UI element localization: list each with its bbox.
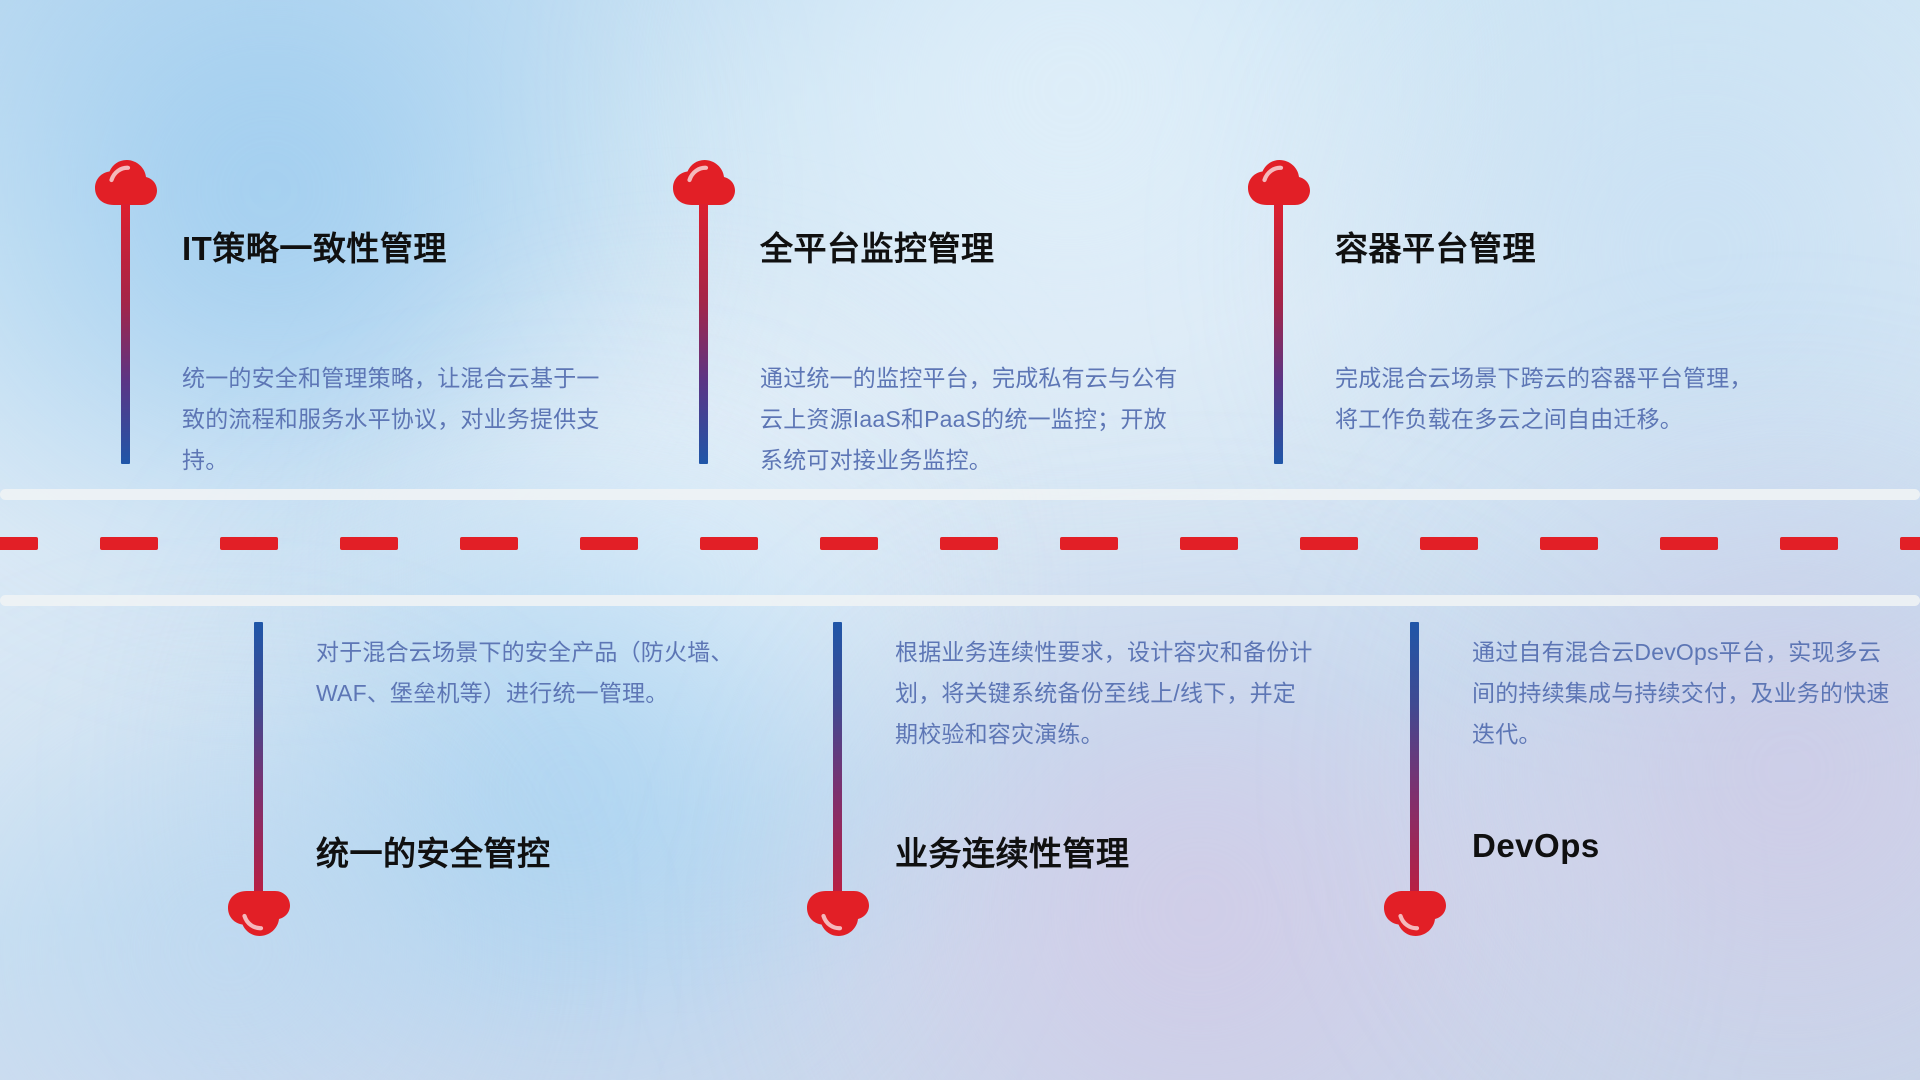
- road-dash: [1060, 537, 1118, 550]
- bottom-column-1-body: 对于混合云场景下的安全产品（防火墙、WAF、堡垒机等）进行统一管理。: [316, 632, 736, 714]
- top-column-2-heading: 全平台监控管理: [760, 222, 995, 270]
- bottom-column-2-heading: 业务连续性管理: [895, 827, 1130, 875]
- road-line-top: [0, 489, 1920, 500]
- bottom-column-2-body: 根据业务连续性要求，设计容灾和备份计划，将关键系统备份至线上/线下，并定期校验和…: [895, 632, 1315, 755]
- infographic-canvas: IT策略一致性管理 统一的安全和管理策略，让混合云基于一致的流程和服务水平协议，…: [0, 0, 1920, 1080]
- connector-stem: [254, 622, 263, 892]
- cloud-icon: [95, 160, 157, 206]
- road-line-bottom: [0, 595, 1920, 606]
- top-column-2-body: 通过统一的监控平台，完成私有云与公有云上资源IaaS和PaaS的统一监控；开放系…: [760, 358, 1180, 481]
- top-column-1-heading: IT策略一致性管理: [182, 222, 447, 270]
- bottom-column-1-heading: 统一的安全管控: [316, 827, 551, 875]
- top-column-3-body: 完成混合云场景下跨云的容器平台管理，将工作负载在多云之间自由迁移。: [1335, 358, 1755, 440]
- cloud-icon: [673, 160, 735, 206]
- bottom-column-3-body: 通过自有混合云DevOps平台，实现多云间的持续集成与持续交付，及业务的快速迭代…: [1472, 632, 1892, 755]
- top-column-1-body: 统一的安全和管理策略，让混合云基于一致的流程和服务水平协议，对业务提供支持。: [182, 358, 602, 481]
- cloud-icon: [228, 890, 290, 936]
- connector-stem: [699, 204, 708, 464]
- road-dash: [1300, 537, 1358, 550]
- road-dash: [1780, 537, 1838, 550]
- road-dash: [220, 537, 278, 550]
- top-column-3-heading: 容器平台管理: [1335, 222, 1536, 270]
- connector-stem: [1274, 204, 1283, 464]
- road-dash: [580, 537, 638, 550]
- road-dash: [820, 537, 878, 550]
- road-dash: [1420, 537, 1478, 550]
- road-dash: [1180, 537, 1238, 550]
- connector-stem: [1410, 622, 1419, 892]
- road-dash: [0, 537, 38, 550]
- road-dash: [1660, 537, 1718, 550]
- bottom-column-3-heading: DevOps: [1472, 827, 1600, 865]
- road-dash-strip: [0, 537, 1920, 550]
- road-dash: [940, 537, 998, 550]
- road-dash: [340, 537, 398, 550]
- cloud-icon: [1384, 890, 1446, 936]
- road-dash: [1900, 537, 1920, 550]
- connector-stem: [833, 622, 842, 892]
- road-dash: [1540, 537, 1598, 550]
- road-dash: [700, 537, 758, 550]
- connector-stem: [121, 204, 130, 464]
- cloud-icon: [807, 890, 869, 936]
- cloud-icon: [1248, 160, 1310, 206]
- road-dash: [460, 537, 518, 550]
- road-dash: [100, 537, 158, 550]
